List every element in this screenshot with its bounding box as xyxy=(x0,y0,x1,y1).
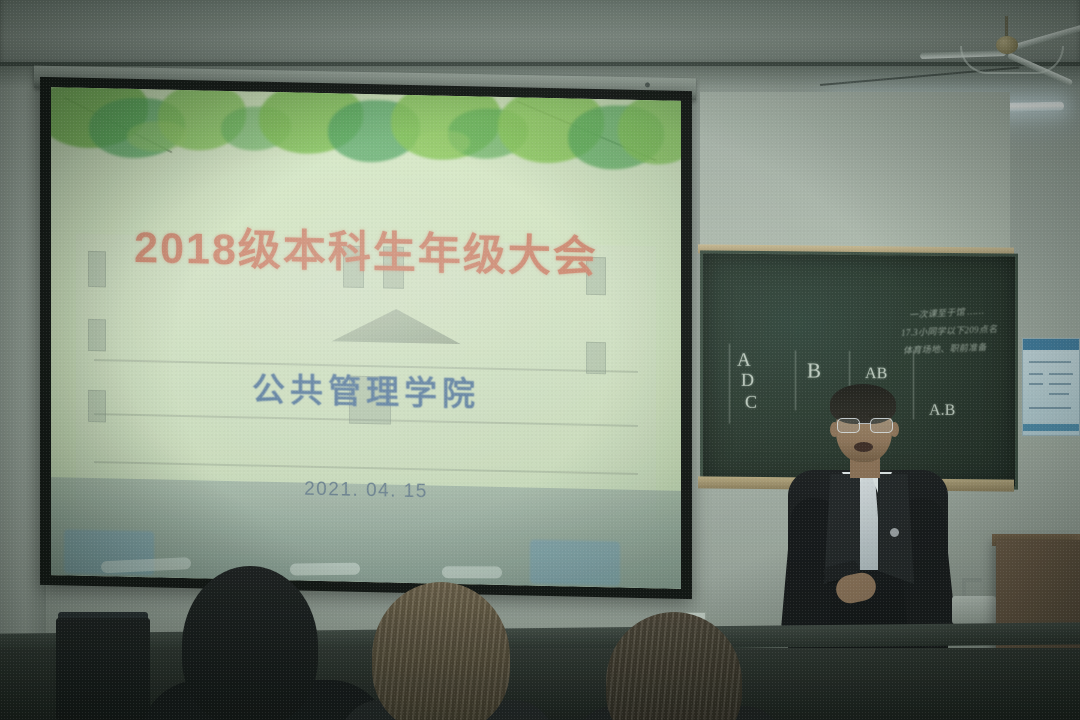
poster-text-line xyxy=(1049,383,1071,385)
road-stripe xyxy=(101,557,192,573)
poster-text-line xyxy=(1029,361,1071,363)
classroom-photo: 2018级本科生年级大会 公共管理学院 2021. 04. 15 A D C B… xyxy=(0,0,1080,720)
road-stripe xyxy=(441,566,501,578)
presenter-badge xyxy=(890,528,899,537)
poster-footer-bar xyxy=(1023,424,1079,431)
hair-texture xyxy=(372,582,510,720)
presenter-mouth xyxy=(854,442,873,452)
poster-text-line xyxy=(1049,393,1069,395)
road-marking xyxy=(530,540,620,586)
chalk-label-a: A xyxy=(737,350,751,372)
building-window xyxy=(88,319,106,351)
ceiling-beam xyxy=(0,0,1080,66)
road-stripe xyxy=(290,563,360,576)
audience-head xyxy=(372,582,510,720)
glasses-lens xyxy=(870,418,893,433)
glasses-bridge xyxy=(858,423,870,424)
loudspeaker-box xyxy=(56,618,150,720)
poster-text-line xyxy=(1049,373,1073,375)
poster-header-bar xyxy=(1023,339,1079,350)
sink-basin xyxy=(952,596,996,624)
wall-notice-poster xyxy=(1022,338,1080,436)
glasses-lens xyxy=(837,418,860,433)
fan-rod xyxy=(1005,16,1008,38)
projection-screen: 2018级本科生年级大会 公共管理学院 2021. 04. 15 xyxy=(40,77,692,599)
poster-text-line xyxy=(1029,407,1071,409)
projected-slide: 2018级本科生年级大会 公共管理学院 2021. 04. 15 xyxy=(51,87,681,589)
tree-leaf xyxy=(127,121,187,152)
building-roof xyxy=(331,308,461,345)
brand-dot-icon xyxy=(645,82,650,87)
poster-text-line xyxy=(1029,383,1043,385)
presenter-eyebrow xyxy=(868,414,886,417)
poster-text-line xyxy=(1029,373,1043,375)
audience-head xyxy=(182,566,318,720)
chalk-label-c: C xyxy=(745,392,757,413)
eyeglasses-icon xyxy=(837,418,891,431)
wall-above-blackboard xyxy=(700,92,1010,250)
screen-brand-logo xyxy=(645,82,650,87)
ceiling-fan-icon xyxy=(996,36,1018,54)
chalk-divider xyxy=(729,344,730,424)
chalk-label-d: D xyxy=(741,370,754,391)
building-ledge xyxy=(94,461,639,475)
presenter-eyebrow xyxy=(838,414,856,417)
